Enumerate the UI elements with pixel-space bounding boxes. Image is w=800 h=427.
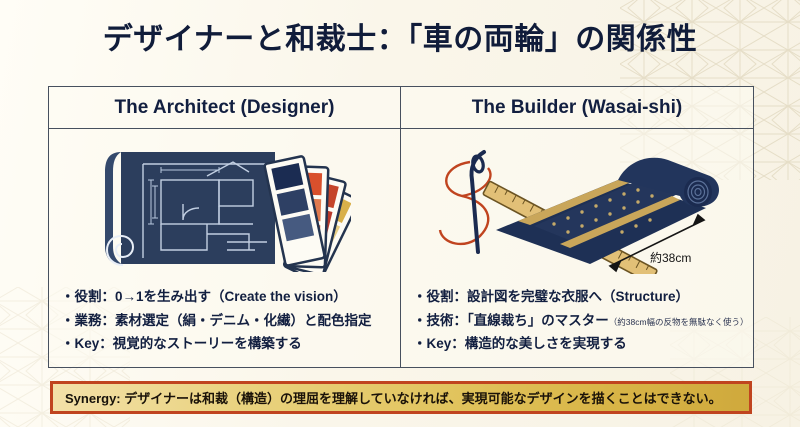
synergy-text-wrap: Synergy: デザイナーは和裁（構造）の理屈を理解していなければ、実現可能な… (53, 388, 722, 407)
bullet-list-architect: ・役割：0→1を生み出す（Create the vision） ・業務：素材選定… (49, 285, 400, 367)
bullet-item: ・技術：「直線裁ち」のマスター（約38cm幅の反物を無駄なく使う） (413, 309, 743, 332)
column-header-architect: The Architect (Designer) (49, 87, 400, 129)
bullet-list-builder: ・役割：設計図を完璧な衣服へ（Structure） ・技術：「直線裁ち」のマスタ… (401, 285, 753, 367)
bullet-text: 技術：「直線裁ち」のマスター (427, 313, 609, 328)
page-title: デザイナーと和裁士：「車の両輪」の関係性 (0, 14, 800, 58)
bullet-text: 業務：素材選定（絹・デニム・化繊）と配色指定 (75, 313, 372, 328)
bullet-item: ・役割：0→1を生み出す（Create the vision） (61, 285, 390, 308)
bullet-text: 役割：設計図を完璧な衣服へ（Structure） (427, 289, 690, 304)
illustration-needle-fabric: 約38cm (401, 129, 753, 285)
fabric-dimension-label: 約38cm (650, 250, 691, 265)
column-body-builder: 約38cm ・役割：設計図を完璧な衣服へ（Structure） ・技術：「直線裁… (401, 129, 753, 367)
synergy-label: Synergy: (65, 391, 121, 406)
bullet-item: ・役割：設計図を完璧な衣服へ（Structure） (413, 285, 743, 308)
comparison-table: The Architect (Designer) (48, 86, 754, 368)
bullet-marker: ・ (61, 289, 75, 304)
illustration-blueprint-swatches (49, 129, 400, 285)
column-architect: The Architect (Designer) (49, 87, 401, 367)
bullet-marker: ・ (61, 336, 75, 351)
column-builder: The Builder (Wasai-shi) (401, 87, 753, 367)
synergy-banner: Synergy: デザイナーは和裁（構造）の理屈を理解していなければ、実現可能な… (50, 381, 752, 414)
bullet-item: ・Key：視覚的なストーリーを構築する (61, 332, 390, 355)
bullet-text: Key：視覚的なストーリーを構築する (75, 336, 302, 351)
bullet-text: Key：構造的な美しさを実現する (427, 336, 627, 351)
column-header-builder: The Builder (Wasai-shi) (401, 87, 753, 129)
bullet-marker: ・ (413, 289, 427, 304)
slide-root: デザイナーと和裁士：「車の両輪」の関係性 The Architect (Desi… (0, 0, 800, 427)
bullet-text: 役割：0→1を生み出す（Create the vision） (75, 289, 347, 304)
bullet-marker: ・ (413, 336, 427, 351)
bullet-note: （約38cm幅の反物を無駄なく使う） (609, 317, 749, 327)
blueprint-and-color-fan-icon (99, 146, 351, 272)
needle-ruler-fabric-bolt-icon: 約38cm (422, 144, 732, 274)
bullet-marker: ・ (61, 313, 75, 328)
bullet-item: ・業務：素材選定（絹・デニム・化繊）と配色指定 (61, 309, 390, 332)
bullet-item: ・Key：構造的な美しさを実現する (413, 332, 743, 355)
column-body-architect: ・役割：0→1を生み出す（Create the vision） ・業務：素材選定… (49, 129, 400, 367)
bullet-marker: ・ (413, 313, 427, 328)
synergy-message: デザイナーは和裁（構造）の理屈を理解していなければ、実現可能なデザインを描くこと… (124, 391, 721, 406)
